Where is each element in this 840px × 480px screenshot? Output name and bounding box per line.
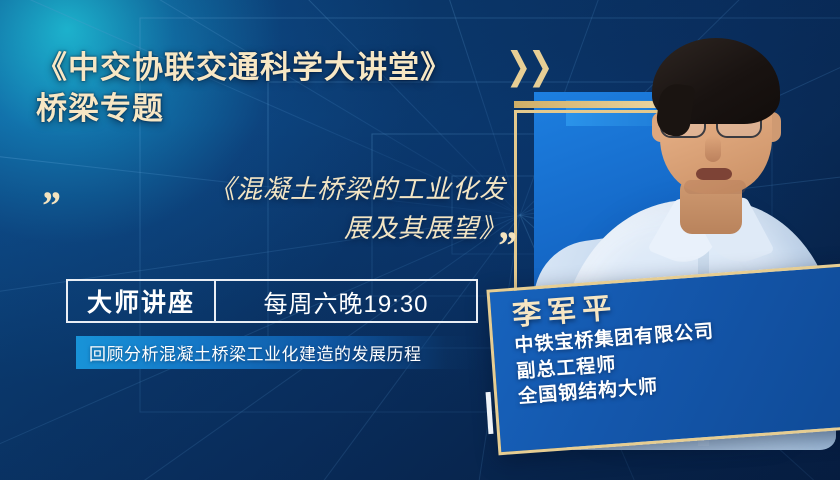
- quote-line-1: 《混凝土桥梁的工业化发: [88, 170, 506, 209]
- headline-line-2: 桥梁专题: [36, 89, 452, 130]
- lecture-topic-quote: ” 《混凝土桥梁的工业化发 展及其展望》 ”: [36, 170, 506, 248]
- schedule-time: 每周六晚19:30: [216, 284, 476, 319]
- presenter-mouth: [696, 168, 732, 180]
- description-text: 回顾分析混凝土桥梁工业化建造的发展历程: [76, 340, 422, 365]
- quote-line-2: 展及其展望》: [88, 209, 506, 248]
- quote-text: 《混凝土桥梁的工业化发 展及其展望》: [88, 170, 506, 248]
- headline-line-1: 《中交协联交通科学大讲堂》: [36, 50, 452, 85]
- poster-canvas: ❯❯ 《中交协联交通科学大讲堂》 桥梁专题 ” 《混凝土桥梁的工业化发: [0, 0, 840, 480]
- presenter-hair: [652, 38, 780, 124]
- presenter-chin: [684, 180, 746, 194]
- description-bar: 回顾分析混凝土桥梁工业化建造的发展历程: [76, 336, 478, 369]
- speaker-details: 李军平 中铁宝桥集团有限公司 副总工程师 全国钢结构大师: [511, 273, 840, 447]
- page-title: 《中交协联交通科学大讲堂》 桥梁专题: [36, 48, 452, 130]
- schedule-label: 大师讲座: [68, 283, 214, 319]
- quote-open-icon: ”: [40, 194, 60, 218]
- schedule-box: 大师讲座 每周六晚19:30: [66, 279, 478, 323]
- speaker-panel: 李军平 中铁宝桥集团有限公司 副总工程师 全国钢结构大师: [486, 263, 840, 456]
- quote-close-icon: ”: [496, 234, 516, 258]
